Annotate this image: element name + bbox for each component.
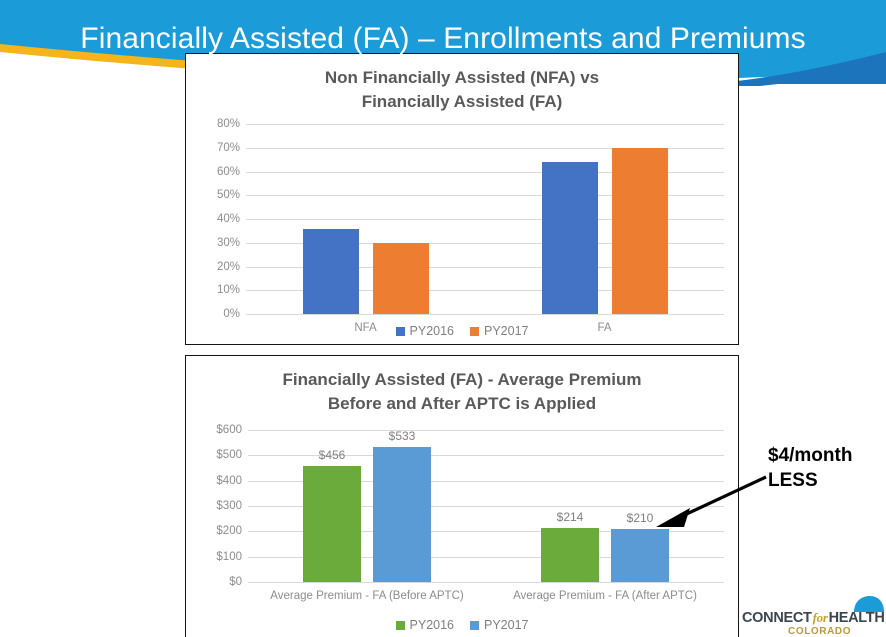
annotation-line-2: LESS [768, 468, 852, 493]
x-axis-category-label: Average Premium - FA (After APTC) [513, 590, 697, 602]
chart2-title-line1: Financially Assisted (FA) - Average Prem… [186, 368, 738, 392]
y-axis-tick-label: 50% [217, 189, 240, 201]
y-axis-tick-label: 40% [217, 213, 240, 225]
bar-PY2016-0: $456 [303, 466, 361, 582]
legend-label: PY2016 [410, 324, 454, 338]
legend-item-PY2016: PY2016 [396, 618, 454, 632]
bar-PY2016-1: $214 [541, 528, 599, 582]
annotation-callout: $4/month LESS [768, 443, 852, 493]
annotation-line-1: $4/month [768, 443, 852, 468]
y-axis-tick-label: $200 [216, 525, 242, 537]
logo-word-for: for [812, 610, 829, 625]
page-title: Financially Assisted (FA) – Enrollments … [0, 22, 886, 56]
logo-word-connect: CONNECT [742, 610, 812, 626]
chart2-legend: PY2016PY2017 [186, 618, 738, 632]
chart1-legend: PY2016PY2017 [186, 324, 738, 338]
chart1-title: Non Financially Assisted (NFA) vs Financ… [186, 66, 738, 114]
x-axis-category-label: Average Premium - FA (Before APTC) [270, 590, 463, 602]
legend-label: PY2017 [484, 618, 528, 632]
chart2-plot-area: $0$100$200$300$400$500$600$456$533Averag… [248, 430, 724, 582]
chart1-plot-area: 0%10%20%30%40%50%60%70%80%NFAFA [246, 124, 724, 314]
chart1-title-line1: Non Financially Assisted (NFA) vs [186, 66, 738, 90]
bar-value-label: $210 [627, 511, 654, 525]
y-axis-tick-label: $600 [216, 424, 242, 436]
logo-word-health: HEALTH [829, 610, 885, 626]
chart2-title: Financially Assisted (FA) - Average Prem… [186, 368, 738, 416]
y-axis-tick-label: $300 [216, 500, 242, 512]
bar-PY2017-0 [373, 243, 429, 314]
bar-value-label: $214 [557, 510, 584, 524]
gridline [246, 314, 724, 315]
gridline [248, 430, 724, 431]
legend-item-PY2016: PY2016 [396, 324, 454, 338]
bar-PY2017-1 [612, 148, 668, 314]
y-axis-tick-label: 80% [217, 118, 240, 130]
y-axis-tick-label: $0 [229, 576, 242, 588]
y-axis-tick-label: 10% [217, 284, 240, 296]
y-axis-tick-label: $100 [216, 551, 242, 563]
legend-swatch [470, 621, 479, 630]
legend-label: PY2016 [410, 618, 454, 632]
y-axis-tick-label: 0% [223, 308, 240, 320]
bar-PY2016-0 [303, 229, 359, 315]
y-axis-tick-label: 70% [217, 142, 240, 154]
chart2-title-line2: Before and After APTC is Applied [186, 392, 738, 416]
legend-item-PY2017: PY2017 [470, 618, 528, 632]
bar-value-label: $456 [319, 448, 346, 462]
chart-fa-average-premium: Financially Assisted (FA) - Average Prem… [185, 355, 739, 637]
legend-swatch [470, 327, 479, 336]
legend-label: PY2017 [484, 324, 528, 338]
legend-swatch [396, 327, 405, 336]
logo-subtext: COLORADO [788, 626, 851, 637]
y-axis-tick-label: 30% [217, 237, 240, 249]
bar-value-label: $533 [389, 429, 416, 443]
chart-nfa-vs-fa: Non Financially Assisted (NFA) vs Financ… [185, 53, 739, 345]
y-axis-tick-label: 60% [217, 166, 240, 178]
y-axis-tick-label: $500 [216, 449, 242, 461]
gridline [246, 124, 724, 125]
legend-swatch [396, 621, 405, 630]
bar-PY2016-1 [542, 162, 598, 314]
logo-wordmark: CONNECTforHEALTH [742, 610, 885, 626]
y-axis-tick-label: 20% [217, 261, 240, 273]
bar-PY2017-1: $210 [611, 529, 669, 582]
chart1-title-line2: Financially Assisted (FA) [186, 90, 738, 114]
y-axis-tick-label: $400 [216, 475, 242, 487]
gridline [248, 582, 724, 583]
legend-item-PY2017: PY2017 [470, 324, 528, 338]
slide-canvas: Financially Assisted (FA) – Enrollments … [0, 0, 886, 637]
connect-for-health-logo: CONNECTforHEALTH COLORADO [742, 600, 886, 637]
bar-PY2017-0: $533 [373, 447, 431, 582]
